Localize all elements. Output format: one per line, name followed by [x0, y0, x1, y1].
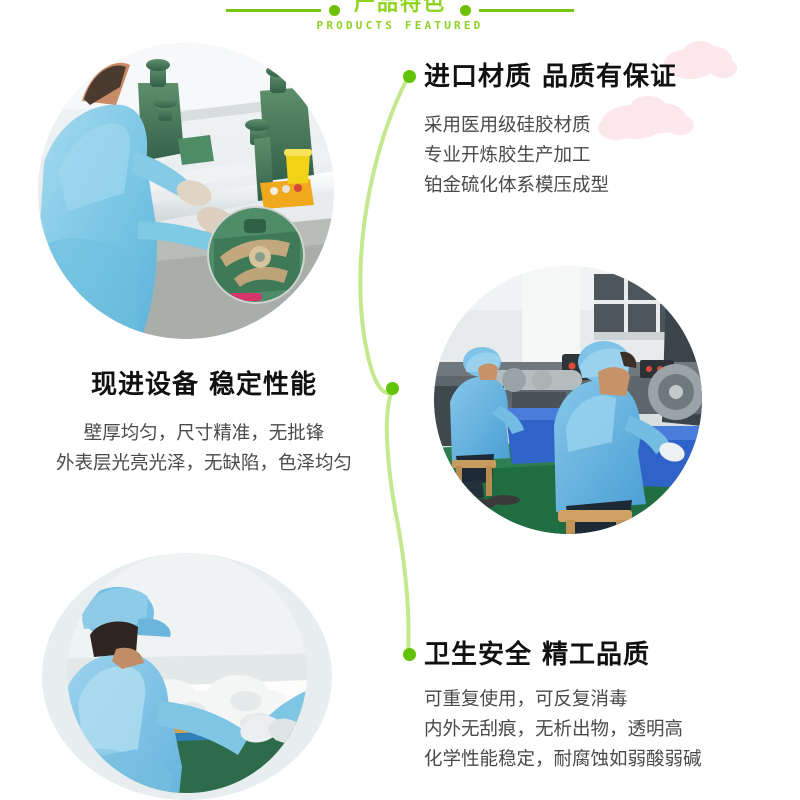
section-1-heading: 进口材质 品质有保证: [424, 62, 677, 93]
photo-production-line: [434, 266, 702, 534]
section-3-line-2: 内外无刮痕，无析出物，透明高: [424, 715, 702, 745]
section-2-heading: 现进设备 稳定性能: [28, 370, 380, 401]
section-hygiene-safety: 卫生安全 精工品质 可重复使用，可反复消毒 内外无刮痕，无析出物，透明高 化学性…: [424, 640, 702, 775]
page-subtitle: PRODUCTS FEATURED: [0, 19, 800, 32]
bullet-dot-section-3: [403, 648, 416, 661]
section-3-line-1: 可重复使用，可反复消毒: [424, 685, 702, 715]
product-features-page: 产品特色 PRODUCTS FEATURED: [0, 0, 800, 800]
section-imported-material: 进口材质 品质有保证 采用医用级硅胶材质 专业开炼胶生产加工 铂金硫化体系模压成…: [424, 62, 677, 201]
section-1-line-2: 专业开炼胶生产加工: [424, 141, 677, 171]
section-3-heading: 卫生安全 精工品质: [424, 640, 702, 671]
section-advanced-equipment: 现进设备 稳定性能 壁厚均匀，尺寸精准，无批锋 外表层光亮光泽，无缺陷，色泽均匀: [28, 370, 380, 479]
photo-rubber-mixing-mill: [38, 43, 334, 339]
header-rule-right: [479, 9, 574, 12]
header-dot-right-icon: [460, 5, 471, 16]
header-dot-left-icon: [329, 5, 340, 16]
header-title-row: 产品特色: [0, 0, 800, 20]
photo-packing-table: [42, 553, 332, 800]
bullet-dot-section-2: [386, 382, 399, 395]
header-rule-left: [226, 9, 321, 12]
section-2-line-2: 外表层光亮光泽，无缺陷，色泽均匀: [28, 449, 380, 479]
page-title: 产品特色: [354, 0, 446, 13]
section-3-line-3: 化学性能稳定，耐腐蚀如弱酸弱碱: [424, 745, 702, 775]
section-2-line-1: 壁厚均匀，尺寸精准，无批锋: [28, 419, 380, 449]
section-1-line-3: 铂金硫化体系模压成型: [424, 171, 677, 201]
section-1-line-1: 采用医用级硅胶材质: [424, 111, 677, 141]
bullet-dot-section-1: [403, 70, 416, 83]
page-header: 产品特色 PRODUCTS FEATURED: [0, 0, 800, 42]
